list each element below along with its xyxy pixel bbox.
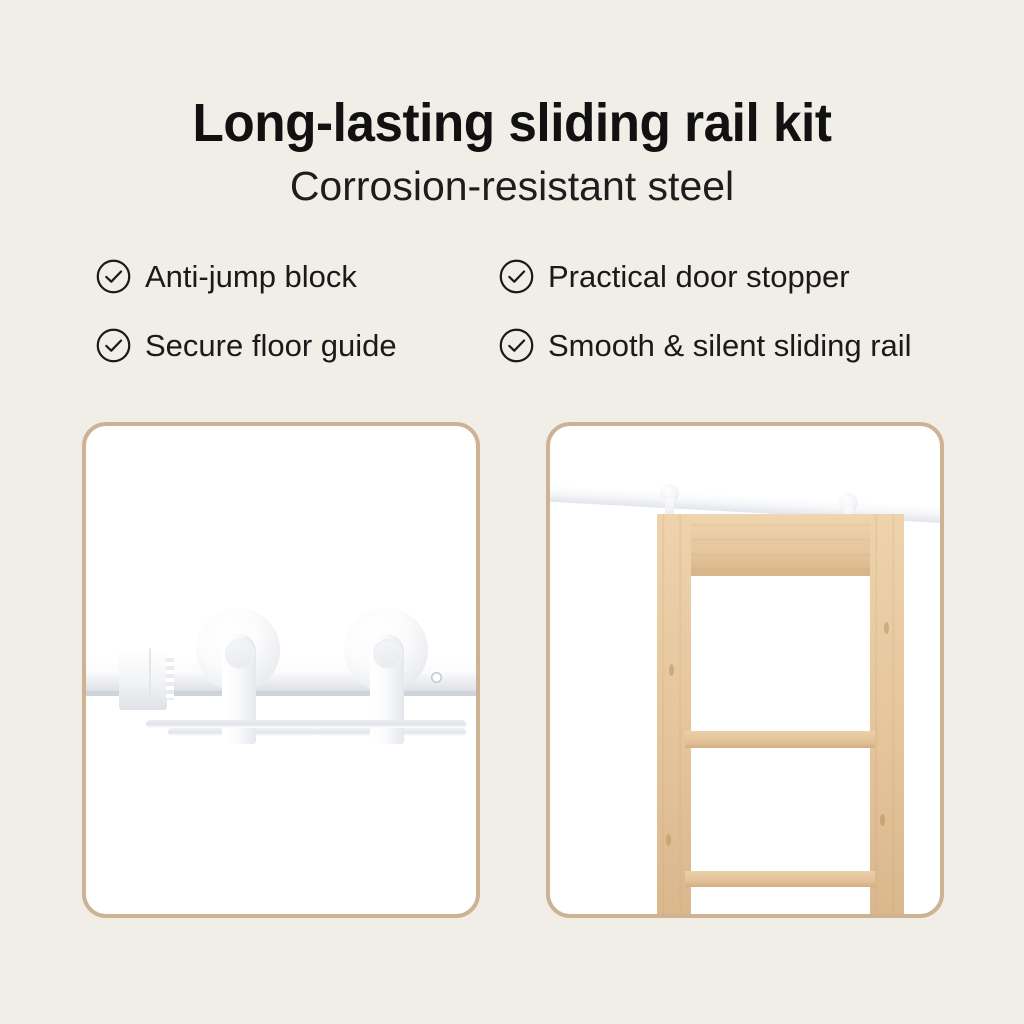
wood-door-frame: [657, 514, 904, 914]
door-left-stile: [657, 514, 691, 914]
wood-knot: [669, 664, 674, 676]
feature-item-smooth-silent-sliding-rail: Smooth & silent sliding rail: [498, 327, 958, 364]
page-subtitle: Corrosion-resistant steel: [0, 152, 1024, 209]
feature-list: Anti-jump block Practical door stopper S…: [95, 258, 965, 396]
feature-row: Anti-jump block Practical door stopper: [95, 258, 965, 327]
anti-jump-stop-block: [119, 648, 167, 710]
feature-label: Practical door stopper: [548, 261, 850, 292]
door-right-stile: [870, 514, 904, 914]
door-top-rail: [685, 514, 875, 576]
header: Long-lasting sliding rail kit Corrosion-…: [0, 0, 1024, 209]
door-middle-rail: [685, 731, 875, 748]
door-roller: [839, 493, 858, 512]
feature-item-secure-floor-guide: Secure floor guide: [95, 327, 498, 364]
photo-stage: [550, 426, 940, 914]
feature-item-practical-door-stopper: Practical door stopper: [498, 258, 958, 295]
feature-row: Secure floor guide Smooth & silent slidi…: [95, 327, 965, 396]
rail-hardware-photo: [82, 422, 480, 918]
check-circle-icon: [95, 327, 132, 364]
installed-door-photo: [546, 422, 944, 918]
stop-block-seam: [149, 648, 151, 710]
feature-item-anti-jump-block: Anti-jump block: [95, 258, 498, 295]
stop-block-ridges: [166, 658, 174, 700]
wood-knot: [884, 622, 889, 634]
check-circle-icon: [498, 327, 535, 364]
rail-mounting-hole: [431, 672, 442, 683]
wood-knot: [880, 814, 885, 826]
photo-stage: [86, 426, 476, 914]
page-title: Long-lasting sliding rail kit: [26, 0, 999, 152]
hanger-hub: [225, 639, 255, 669]
check-circle-icon: [95, 258, 132, 295]
hanger-hub: [373, 639, 403, 669]
feature-label: Smooth & silent sliding rail: [548, 330, 912, 361]
floor-guide-plate: [146, 720, 466, 728]
feature-label: Anti-jump block: [145, 261, 357, 292]
door-roller: [660, 484, 679, 503]
check-circle-icon: [498, 258, 535, 295]
feature-label: Secure floor guide: [145, 330, 397, 361]
wood-knot: [666, 834, 671, 846]
door-lower-rail: [685, 871, 875, 887]
